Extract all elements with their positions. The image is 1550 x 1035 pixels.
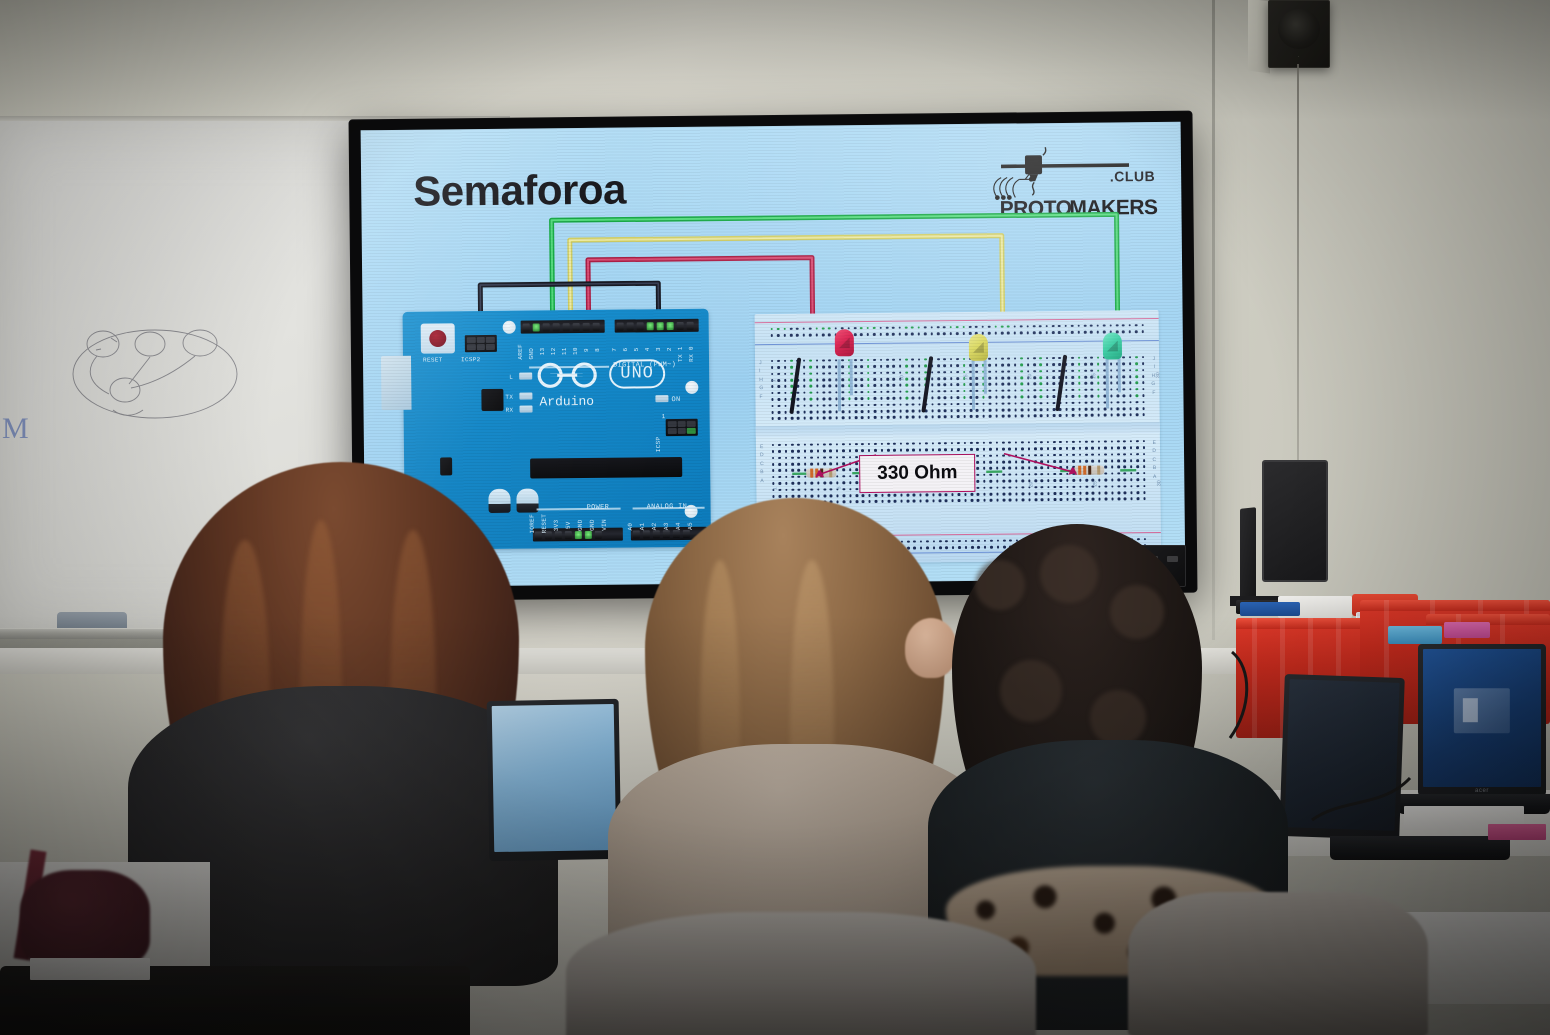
capacitor-2 bbox=[516, 488, 538, 512]
pin-label-7: 7 bbox=[611, 348, 618, 352]
tx-label: TX bbox=[505, 394, 513, 401]
speaker-brand-label: · bbox=[1298, 54, 1300, 60]
wall-speaker: · bbox=[1268, 0, 1330, 68]
digital-header-left[interactable] bbox=[521, 320, 605, 334]
pin-label-4: 4 bbox=[644, 347, 651, 351]
whiteboard-drawing bbox=[55, 318, 255, 428]
pin-4[interactable] bbox=[646, 322, 653, 330]
pin-2[interactable] bbox=[666, 322, 673, 330]
pin-label-a2: A2 bbox=[651, 522, 658, 530]
reset-button-cap bbox=[429, 330, 446, 347]
pin-a3[interactable] bbox=[662, 530, 669, 538]
pin-a1[interactable] bbox=[642, 530, 649, 538]
pin-label-reset-power: RESET bbox=[541, 514, 548, 534]
arduino-wordmark: Arduino bbox=[539, 394, 594, 410]
pin-3v3[interactable] bbox=[554, 531, 561, 539]
capacitor-1 bbox=[488, 489, 510, 513]
pin-label-ioref: IOREF bbox=[529, 514, 536, 534]
speaker-bracket bbox=[1248, 0, 1270, 74]
pin-label-3: 3 bbox=[655, 347, 662, 351]
pin-label-gnd: GND bbox=[528, 348, 535, 360]
resistor-1 bbox=[806, 468, 836, 477]
arduino-infinity-logo bbox=[531, 360, 603, 391]
pin-6[interactable] bbox=[626, 322, 633, 330]
crate-blue-folder bbox=[1240, 602, 1300, 616]
usb-controller-chip bbox=[481, 389, 503, 411]
led-tx bbox=[519, 393, 532, 400]
pin-label-a1: A1 bbox=[639, 523, 646, 531]
pin-label-aref: AREF bbox=[517, 344, 524, 360]
pin-label-5: 5 bbox=[633, 347, 640, 351]
pin-11[interactable] bbox=[562, 323, 569, 331]
pin-label-8: 8 bbox=[594, 348, 601, 352]
pin-label-6: 6 bbox=[622, 348, 629, 352]
whiteboard-blue-mark: M bbox=[2, 412, 29, 446]
pin-label-5v: 5V bbox=[565, 521, 572, 529]
icsp2-label: ICSP2 bbox=[461, 356, 481, 363]
usb-connector bbox=[381, 356, 412, 410]
pin-label-a0: A0 bbox=[627, 523, 634, 531]
pin-gnd-2[interactable] bbox=[584, 530, 591, 538]
green-led bbox=[1103, 332, 1122, 359]
pin-8[interactable] bbox=[592, 322, 599, 330]
pin-label-2: 2 bbox=[666, 347, 673, 351]
room-shading-bottom bbox=[0, 615, 1550, 1035]
pin-label-gnd2: GND bbox=[589, 519, 596, 531]
classroom-scene: · M Semaforoa bbox=[0, 0, 1550, 1035]
reset-label: RESET bbox=[423, 356, 443, 363]
pin-label-12: 12 bbox=[550, 347, 557, 355]
pin-a2[interactable] bbox=[652, 530, 659, 538]
pin-label-rx0: RX 0 bbox=[688, 346, 695, 362]
pin-label-gnd1: GND bbox=[577, 519, 584, 531]
icsp-label: ICSP bbox=[655, 437, 662, 453]
pin-vin[interactable] bbox=[594, 530, 601, 538]
icsp-header bbox=[666, 419, 698, 436]
pin-13[interactable] bbox=[542, 323, 549, 331]
voltage-regulator bbox=[440, 457, 452, 475]
side-monitor[interactable] bbox=[1262, 460, 1328, 582]
yellow-led bbox=[969, 334, 988, 361]
pin-a5[interactable] bbox=[682, 529, 689, 537]
pin-a0[interactable] bbox=[632, 530, 639, 538]
ohm-annotation-label: 330 Ohm bbox=[859, 454, 976, 493]
pin-gnd-1[interactable] bbox=[574, 531, 581, 539]
pin-label-9: 9 bbox=[583, 348, 590, 352]
pin-rx-0[interactable] bbox=[686, 321, 693, 329]
pin-label-a5: A5 bbox=[687, 522, 694, 530]
icsp-pin1-label: 1 bbox=[662, 413, 666, 420]
pin-7[interactable] bbox=[616, 322, 623, 330]
digital-header-right[interactable] bbox=[615, 319, 699, 333]
pin-tx-1[interactable] bbox=[676, 321, 683, 329]
mount-hole-top-left bbox=[503, 321, 516, 334]
pin-label-tx1: TX 1 bbox=[677, 346, 684, 362]
pin-label-vin: VIN bbox=[601, 519, 608, 531]
speaker-cone-icon bbox=[1278, 9, 1320, 49]
student-right-curl-2 bbox=[1040, 545, 1098, 603]
reset-button[interactable] bbox=[421, 323, 455, 353]
led-on bbox=[655, 395, 668, 402]
led-rx bbox=[520, 406, 533, 413]
power-label: POWER bbox=[587, 504, 610, 512]
pin-label-10: 10 bbox=[572, 347, 579, 355]
on-label: ON bbox=[671, 396, 680, 404]
pin-gnd-digital[interactable] bbox=[532, 323, 539, 331]
monitor-arm bbox=[1240, 507, 1256, 609]
rx-label: RX bbox=[506, 407, 514, 414]
pin-3[interactable] bbox=[656, 322, 663, 330]
pin-label-a4: A4 bbox=[675, 522, 682, 530]
microcontroller bbox=[530, 457, 682, 479]
pin-aref[interactable] bbox=[522, 323, 529, 331]
pin-label-11: 11 bbox=[561, 347, 568, 355]
student-right-curl-1 bbox=[975, 560, 1025, 610]
icsp2-header bbox=[465, 335, 497, 352]
pin-label-3v3: 3V3 bbox=[553, 520, 560, 532]
analog-label: ANALOG IN bbox=[647, 503, 688, 511]
resistor-3 bbox=[1074, 466, 1104, 475]
pin-label-a3: A3 bbox=[663, 522, 670, 530]
pin-12[interactable] bbox=[552, 323, 559, 331]
l-label: L bbox=[509, 374, 513, 381]
pin-5v[interactable] bbox=[564, 531, 571, 539]
pin-label-13: 13 bbox=[539, 348, 546, 356]
red-led bbox=[835, 329, 854, 356]
pin-10[interactable] bbox=[572, 323, 579, 331]
pin-9[interactable] bbox=[582, 322, 589, 330]
uno-badge: UNO bbox=[609, 359, 665, 389]
pin-5[interactable] bbox=[636, 322, 643, 330]
pin-a4[interactable] bbox=[672, 529, 679, 537]
mount-hole-right bbox=[685, 381, 698, 394]
